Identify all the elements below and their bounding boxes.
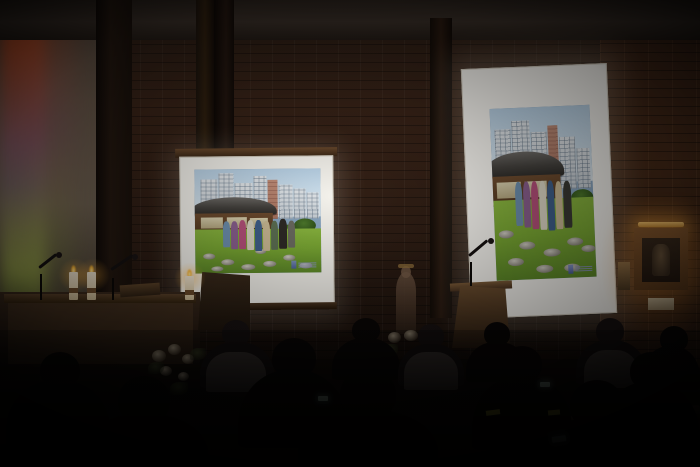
flower-petal	[388, 332, 401, 343]
image-watermark	[568, 264, 592, 274]
flower-leaf	[170, 382, 188, 395]
flower-petal	[178, 372, 189, 381]
photo-person	[247, 220, 254, 250]
mic-stand-centre	[40, 274, 42, 300]
brick-wall-right	[600, 28, 700, 368]
image-watermark	[291, 260, 316, 268]
ambo-right[interactable]	[452, 286, 510, 348]
ceiling-beam	[214, 0, 234, 150]
mic-stand-left	[112, 278, 114, 300]
tower	[576, 147, 591, 188]
screen-surface-right	[461, 63, 617, 319]
statue-crown	[398, 264, 414, 268]
tower	[307, 192, 319, 218]
phone-screen-glow	[552, 435, 567, 443]
brick-pilaster	[430, 18, 452, 318]
audience-shoulders	[530, 418, 666, 467]
flower-petal	[168, 344, 181, 355]
candle-band	[87, 288, 96, 293]
photo-person	[271, 221, 278, 250]
flower-leaf	[382, 344, 398, 356]
lectern-left[interactable]	[198, 272, 250, 330]
programme-card	[548, 409, 560, 415]
candle-right	[185, 276, 194, 300]
photo-person	[231, 221, 238, 249]
wall-sconce	[618, 262, 630, 290]
hanok-window	[201, 217, 223, 228]
candle-band	[185, 290, 194, 295]
photo-person	[239, 220, 246, 249]
tower	[294, 188, 306, 218]
flower-leaf	[148, 362, 164, 374]
audience-shoulders	[238, 370, 348, 448]
photo-person	[279, 219, 287, 249]
flower-petal	[152, 350, 166, 362]
mic-head-ambo	[488, 238, 494, 244]
projection-screen-right[interactable]	[461, 63, 617, 319]
candle-left-inner	[87, 272, 96, 300]
mic-stand-ambo	[470, 262, 472, 286]
artwork-figure	[652, 244, 670, 276]
altar-top-surface	[4, 294, 196, 303]
audience-head	[570, 380, 624, 430]
audience-shoulders	[472, 376, 572, 450]
audience-shoulders	[80, 414, 208, 467]
pew-back	[540, 405, 700, 428]
flower-petal	[420, 336, 432, 346]
devotional-statue	[396, 272, 416, 334]
photo-person	[255, 220, 262, 251]
photo-person	[223, 221, 230, 247]
audience-shoulders	[298, 410, 438, 467]
projected-photo-left	[194, 168, 321, 273]
phone-screen-glow	[318, 396, 328, 401]
floral-arrangement-centre	[380, 330, 452, 378]
floral-arrangement-left	[148, 344, 218, 406]
candle-band	[69, 288, 78, 293]
mic-head-centre	[56, 252, 62, 258]
audience-shoulders	[600, 382, 700, 458]
programme-card	[486, 409, 501, 416]
watermark-text-lines	[298, 262, 316, 267]
watermark-mark	[291, 261, 296, 269]
tower	[278, 185, 292, 219]
pew-front	[600, 433, 700, 454]
flower-petal	[404, 330, 418, 341]
audience-shoulders	[6, 380, 110, 450]
watermark-mark	[568, 265, 573, 274]
phone-screen-glow	[540, 382, 550, 387]
flower-leaf	[190, 348, 206, 360]
presentation-scene	[0, 0, 700, 467]
mic-head-left	[132, 254, 138, 260]
photo-person	[263, 221, 270, 251]
photo-person	[288, 221, 295, 248]
flower-leaf	[414, 348, 432, 361]
projected-photo-right	[490, 105, 597, 281]
artwork-plaque	[648, 298, 674, 310]
watermark-text-lines	[575, 266, 592, 272]
picture-light-icon	[638, 222, 684, 227]
